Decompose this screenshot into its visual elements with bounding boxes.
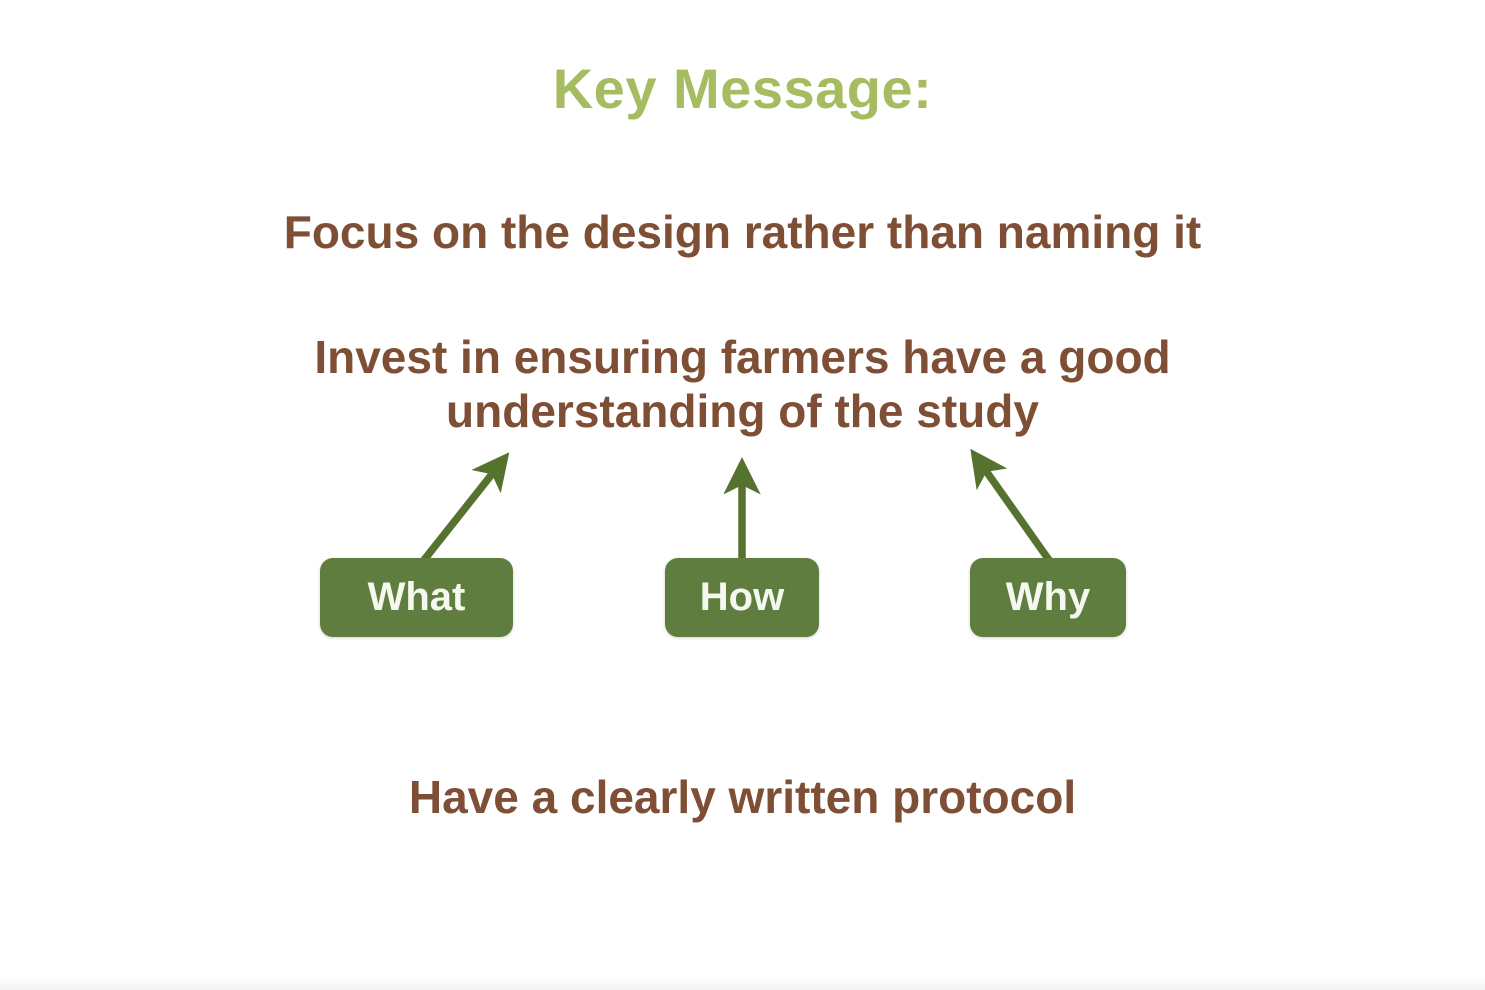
- bottom-edge-band: [0, 976, 1485, 990]
- slide-canvas: Key Message: Focus on the design rather …: [0, 0, 1485, 990]
- arrow-why: [979, 461, 1049, 560]
- label-box-how[interactable]: How: [665, 558, 819, 637]
- page-title: Key Message:: [0, 58, 1485, 120]
- arrow-diagram-layer: [0, 0, 1485, 990]
- statement-invest-in-understanding: Invest in ensuring farmers have a good u…: [0, 330, 1485, 439]
- statement-written-protocol: Have a clearly written protocol: [0, 770, 1485, 824]
- label-box-what-text: What: [368, 575, 466, 620]
- label-box-what[interactable]: What: [320, 558, 513, 637]
- label-box-how-text: How: [700, 575, 784, 620]
- label-box-why-text: Why: [1006, 575, 1090, 620]
- statement-focus-on-design: Focus on the design rather than naming i…: [0, 205, 1485, 259]
- label-box-why[interactable]: Why: [970, 558, 1126, 637]
- arrow-what: [424, 464, 500, 560]
